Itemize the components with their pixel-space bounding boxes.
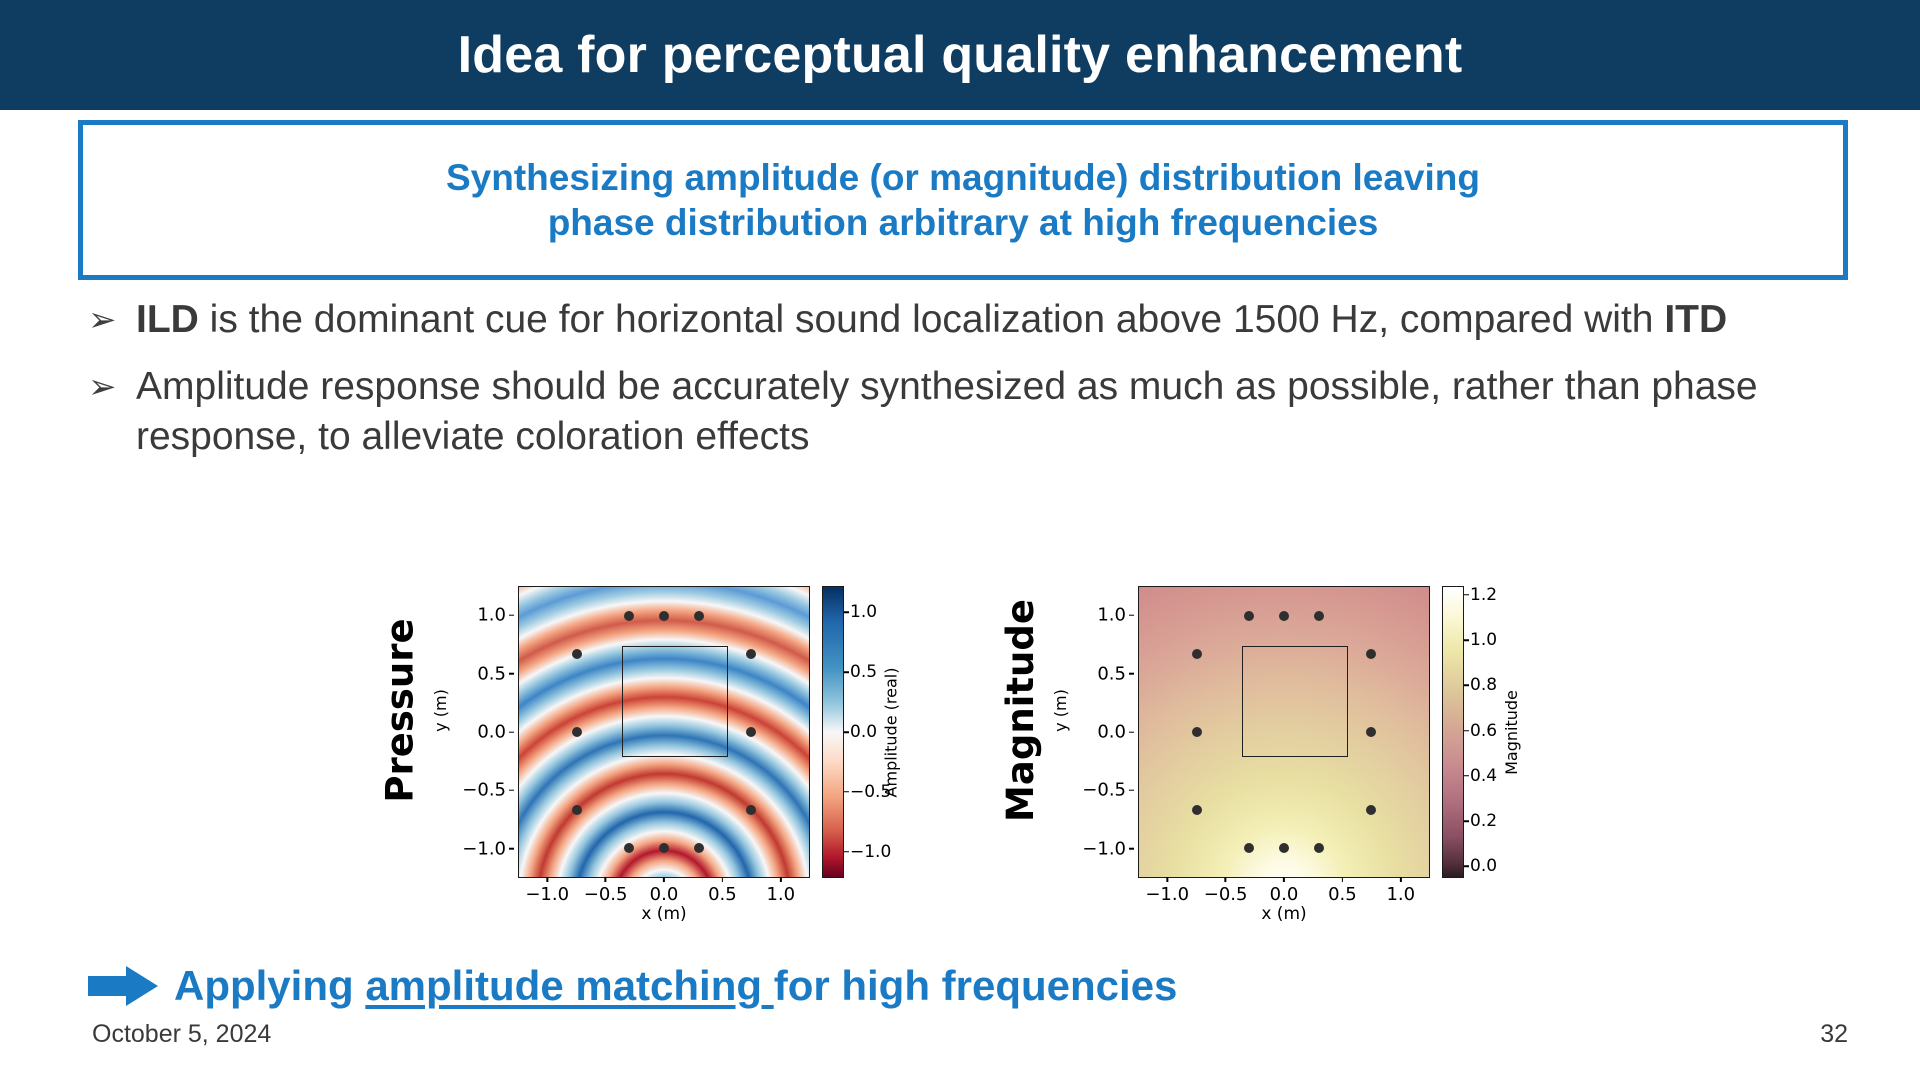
colorbar-tick: 0.0 (850, 722, 877, 742)
x-tick: −1.0 (1145, 884, 1189, 905)
bullet-arrow-icon: ➢ (88, 295, 136, 342)
footer-page-number: 32 (1820, 1020, 1848, 1049)
colorbar-tick: 1.0 (1470, 630, 1497, 650)
pressure-plot-area (518, 586, 810, 878)
loudspeaker-marker (746, 649, 756, 659)
conclusion-row: Applying amplitude matching for high fre… (88, 955, 1788, 1017)
loudspeaker-marker (1192, 805, 1202, 815)
conclusion-text: Applying amplitude matching for high fre… (174, 962, 1177, 1010)
loudspeaker-marker (1244, 843, 1254, 853)
loudspeaker-marker (1366, 649, 1376, 659)
colorbar-tick: 0.6 (1470, 721, 1497, 741)
magnitude-figure: Magnitude y (m) 1.0 0.5 0.0 −0.5 −1.0 (990, 560, 1510, 920)
bullet-list: ➢ ILD is the dominant cue for horizontal… (88, 295, 1878, 479)
loudspeaker-marker (1314, 843, 1324, 853)
loudspeaker-marker (746, 805, 756, 815)
loudspeaker-marker (572, 649, 582, 659)
pressure-colorbar: 1.0 0.5 0.0 −0.5 −1.0 Amplitude (real) (822, 586, 892, 878)
pressure-colorbar-gradient (822, 586, 844, 878)
pressure-y-ticks: 1.0 0.5 0.0 −0.5 −1.0 (452, 586, 514, 878)
x-tick: 0.5 (1328, 884, 1357, 905)
loudspeaker-marker (1279, 611, 1289, 621)
list-item: ➢ Amplitude response should be accuratel… (88, 362, 1878, 463)
loudspeaker-marker (694, 843, 704, 853)
magnitude-colorbar-label: Magnitude (1498, 586, 1524, 878)
loudspeaker-marker (746, 727, 756, 737)
magnitude-figure-title: Magnitude (990, 560, 1050, 860)
bullet-bold-itd: ITD (1664, 298, 1727, 341)
callout-line-2: phase distribution arbitrary at high fre… (548, 200, 1379, 245)
conclusion-post: for high frequencies (774, 962, 1178, 1009)
loudspeaker-marker (1192, 727, 1202, 737)
y-tick: −1.0 (462, 838, 506, 859)
x-tick: −1.0 (525, 884, 569, 905)
pressure-y-axis-label: y (m) (426, 560, 454, 860)
conclusion-pre: Applying (174, 962, 365, 1009)
loudspeaker-marker (1244, 611, 1254, 621)
colorbar-tick: 0.0 (1470, 856, 1497, 876)
loudspeaker-marker (1366, 805, 1376, 815)
x-tick: 1.0 (1386, 884, 1415, 905)
loudspeaker-marker (624, 843, 634, 853)
bullet-mid-text: is the dominant cue for horizontal sound… (199, 298, 1665, 341)
magnitude-colorbar: 1.2 1.0 0.8 0.6 0.4 0.2 0.0 Magnitude (1442, 586, 1512, 878)
loudspeaker-marker (1314, 611, 1324, 621)
colorbar-tick: 1.0 (850, 602, 877, 622)
callout-box: Synthesizing amplitude (or magnitude) di… (78, 120, 1848, 280)
magnitude-y-axis-label: y (m) (1046, 560, 1074, 860)
bullet-bold-ild: ILD (136, 298, 199, 341)
colorbar-tick: 0.8 (1470, 675, 1497, 695)
x-tick: −0.5 (584, 884, 628, 905)
y-tick: 0.5 (1097, 663, 1126, 684)
bullet-text: ILD is the dominant cue for horizontal s… (136, 295, 1727, 346)
y-tick: 1.0 (477, 605, 506, 626)
bullet-text: Amplitude response should be accurately … (136, 362, 1878, 463)
y-tick: 0.5 (477, 663, 506, 684)
pressure-figure-title: Pressure (370, 560, 430, 860)
pressure-colorbar-label: Amplitude (real) (878, 586, 904, 878)
magnitude-x-axis-label: x (m) (1138, 904, 1430, 924)
right-arrow-icon (88, 964, 160, 1008)
x-tick: 0.5 (708, 884, 737, 905)
loudspeaker-marker (624, 611, 634, 621)
page-title: Idea for perceptual quality enhancement (458, 29, 1463, 81)
y-tick: −0.5 (1082, 780, 1126, 801)
x-tick: 0.0 (650, 884, 679, 905)
x-tick: −0.5 (1204, 884, 1248, 905)
conclusion-underlined: amplitude matching (365, 962, 773, 1009)
list-item: ➢ ILD is the dominant cue for horizontal… (88, 295, 1878, 346)
slide-title-bar: Idea for perceptual quality enhancement (0, 0, 1920, 110)
magnitude-target-region (1242, 646, 1348, 756)
pressure-target-region (622, 646, 728, 756)
loudspeaker-marker (572, 727, 582, 737)
colorbar-tick: 0.5 (850, 662, 877, 682)
bullet-arrow-icon: ➢ (88, 362, 136, 409)
magnitude-plot-area (1138, 586, 1430, 878)
magnitude-y-ticks: 1.0 0.5 0.0 −0.5 −1.0 (1072, 586, 1134, 878)
loudspeaker-marker (1192, 649, 1202, 659)
loudspeaker-marker (572, 805, 582, 815)
y-tick: 1.0 (1097, 605, 1126, 626)
loudspeaker-marker (659, 611, 669, 621)
loudspeaker-marker (694, 611, 704, 621)
colorbar-tick: 0.2 (1470, 811, 1497, 831)
y-tick: 0.0 (477, 722, 506, 743)
loudspeaker-marker (659, 843, 669, 853)
y-tick: −0.5 (462, 780, 506, 801)
y-tick: −1.0 (1082, 838, 1126, 859)
colorbar-tick: 1.2 (1470, 585, 1497, 605)
pressure-x-axis-label: x (m) (518, 904, 810, 924)
loudspeaker-marker (1279, 843, 1289, 853)
magnitude-x-ticks: −1.0 −0.5 0.0 0.5 1.0 (1138, 878, 1430, 900)
magnitude-colorbar-gradient (1442, 586, 1464, 878)
colorbar-tick: 0.4 (1470, 766, 1497, 786)
figure-strip: Pressure y (m) 1.0 0.5 0.0 −0.5 −1.0 (0, 560, 1920, 920)
x-tick: 0.0 (1270, 884, 1299, 905)
callout-line-1: Synthesizing amplitude (or magnitude) di… (446, 155, 1480, 200)
x-tick: 1.0 (766, 884, 795, 905)
loudspeaker-marker (1366, 727, 1376, 737)
pressure-x-ticks: −1.0 −0.5 0.0 0.5 1.0 (518, 878, 810, 900)
footer-date: October 5, 2024 (92, 1020, 271, 1049)
pressure-figure: Pressure y (m) 1.0 0.5 0.0 −0.5 −1.0 (370, 560, 890, 920)
y-tick: 0.0 (1097, 722, 1126, 743)
